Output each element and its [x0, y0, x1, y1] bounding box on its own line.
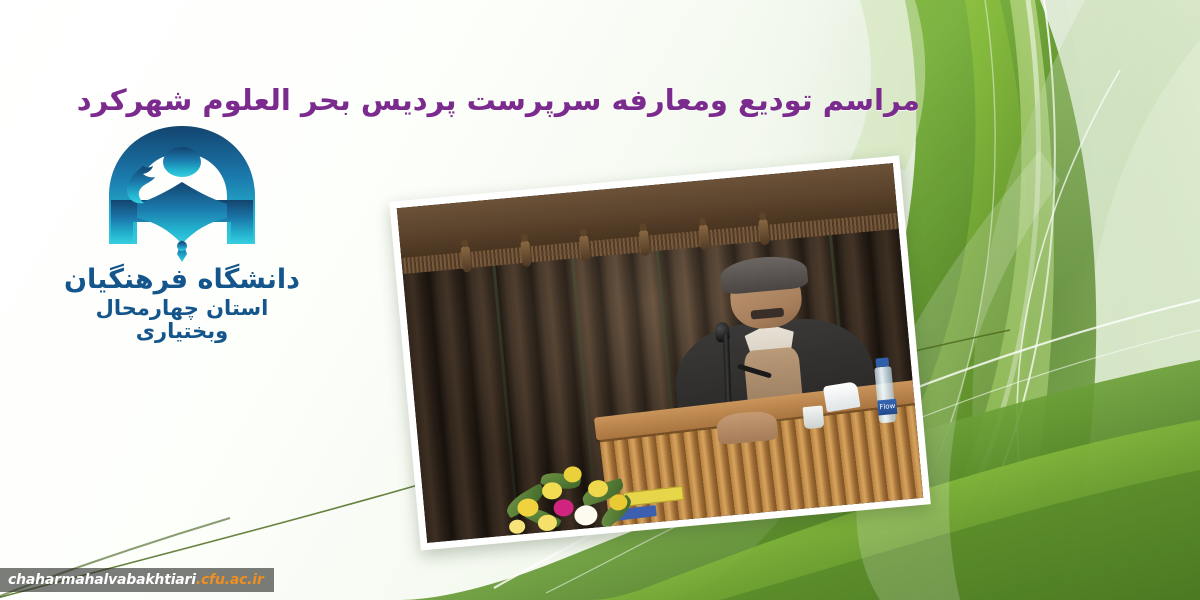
event-photo: Flow	[389, 156, 931, 551]
water-bottle-brand: Flow	[877, 399, 897, 416]
university-logo: دانشگاه فرهنگیان استان چهارمحال وبختیاری	[62, 122, 302, 344]
paper-cup	[802, 406, 824, 430]
banner-canvas: دانشگاه فرهنگیان استان چهارمحال وبختیاری…	[0, 0, 1200, 600]
site-url-banner[interactable]: chaharmahalvabakhtiari.cfu.ac.ir	[0, 568, 274, 592]
flower-arrangement	[489, 435, 662, 543]
site-url-domain: .cfu.ac.ir	[196, 572, 264, 588]
logo-province-name: استان چهارمحال وبختیاری	[62, 297, 302, 343]
event-photo-image: Flow	[397, 163, 923, 543]
page-title: مراسم تودیع ومعارفه سرپرست پردیس بحر الع…	[300, 82, 920, 118]
logo-university-name: دانشگاه فرهنگیان	[62, 266, 302, 294]
university-arch-book-emblem-icon	[97, 122, 267, 264]
water-bottle-cap	[875, 358, 889, 368]
tissue-box	[823, 381, 861, 412]
water-bottle-label: Flow	[877, 399, 897, 416]
site-url-name: chaharmahalvabakhtiari	[8, 572, 196, 588]
